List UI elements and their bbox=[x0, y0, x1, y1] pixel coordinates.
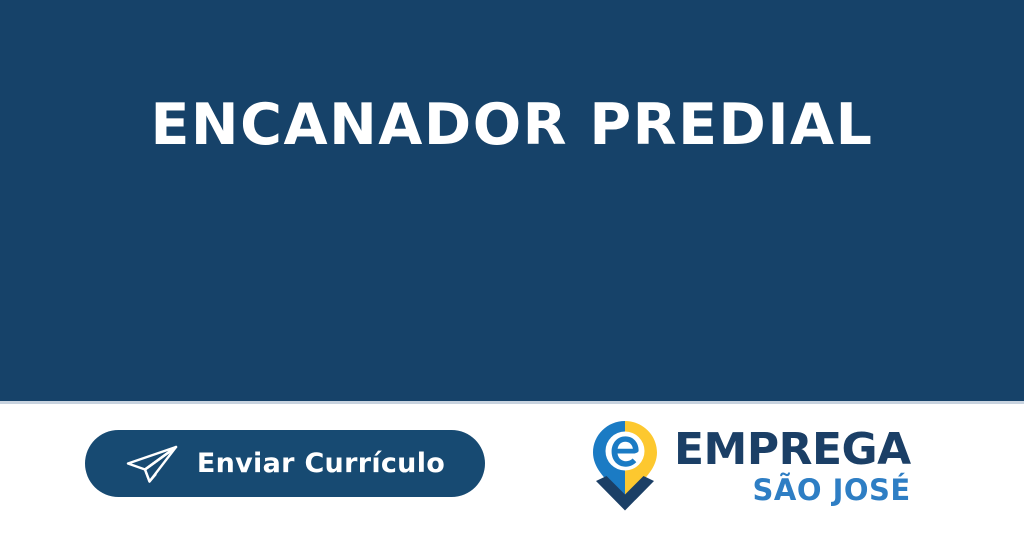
send-resume-label: Enviar Currículo bbox=[197, 449, 445, 479]
send-resume-button[interactable]: Enviar Currículo bbox=[85, 430, 485, 497]
map-pin-e-logo-icon bbox=[588, 420, 662, 512]
brand-wordmark: EMPREGA SÃO JOSÉ bbox=[674, 420, 911, 506]
page-title: ENCANADOR PREDIAL bbox=[0, 92, 1024, 158]
brand-city: SÃO JOSÉ bbox=[752, 474, 910, 506]
job-posting-card: ENCANADOR PREDIAL Enviar Currículo bbox=[0, 0, 1024, 536]
brand-name: EMPREGA bbox=[674, 428, 911, 472]
paper-plane-send-icon bbox=[125, 444, 179, 484]
brand-logo[interactable]: EMPREGA SÃO JOSÉ bbox=[588, 420, 918, 515]
job-title-banner: ENCANADOR PREDIAL bbox=[0, 0, 1024, 401]
